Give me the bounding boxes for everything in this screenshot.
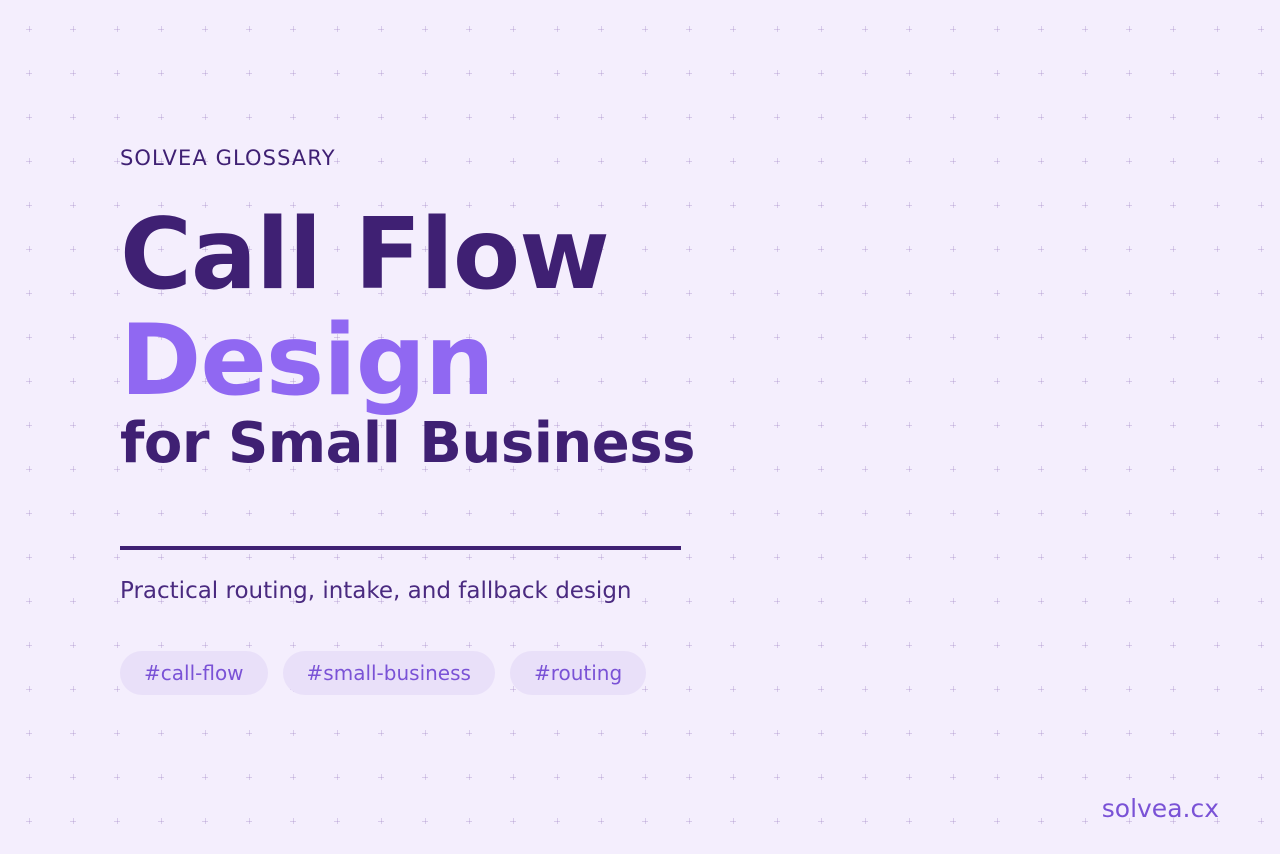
tag-chip-call-flow[interactable]: #call-flow — [120, 651, 268, 695]
page-title: Call Flow Design for Small Business — [120, 206, 1020, 472]
subtitle-text: Practical routing, intake, and fallback … — [120, 578, 632, 604]
footer-brand-label: solvea.cx — [1102, 794, 1219, 823]
tag-chip-routing[interactable]: #routing — [510, 651, 646, 695]
title-line-tertiary: for Small Business — [120, 416, 1020, 472]
title-divider-rule — [120, 546, 681, 550]
title-line-accent: Design — [120, 312, 1020, 410]
title-card: SOLVEA GLOSSARY Call Flow Design for Sma… — [0, 0, 1280, 854]
title-line-primary: Call Flow — [120, 206, 1020, 304]
tag-list: #call-flow #small-business #routing — [120, 651, 646, 695]
tag-chip-small-business[interactable]: #small-business — [283, 651, 495, 695]
eyebrow-label: SOLVEA GLOSSARY — [120, 146, 336, 170]
